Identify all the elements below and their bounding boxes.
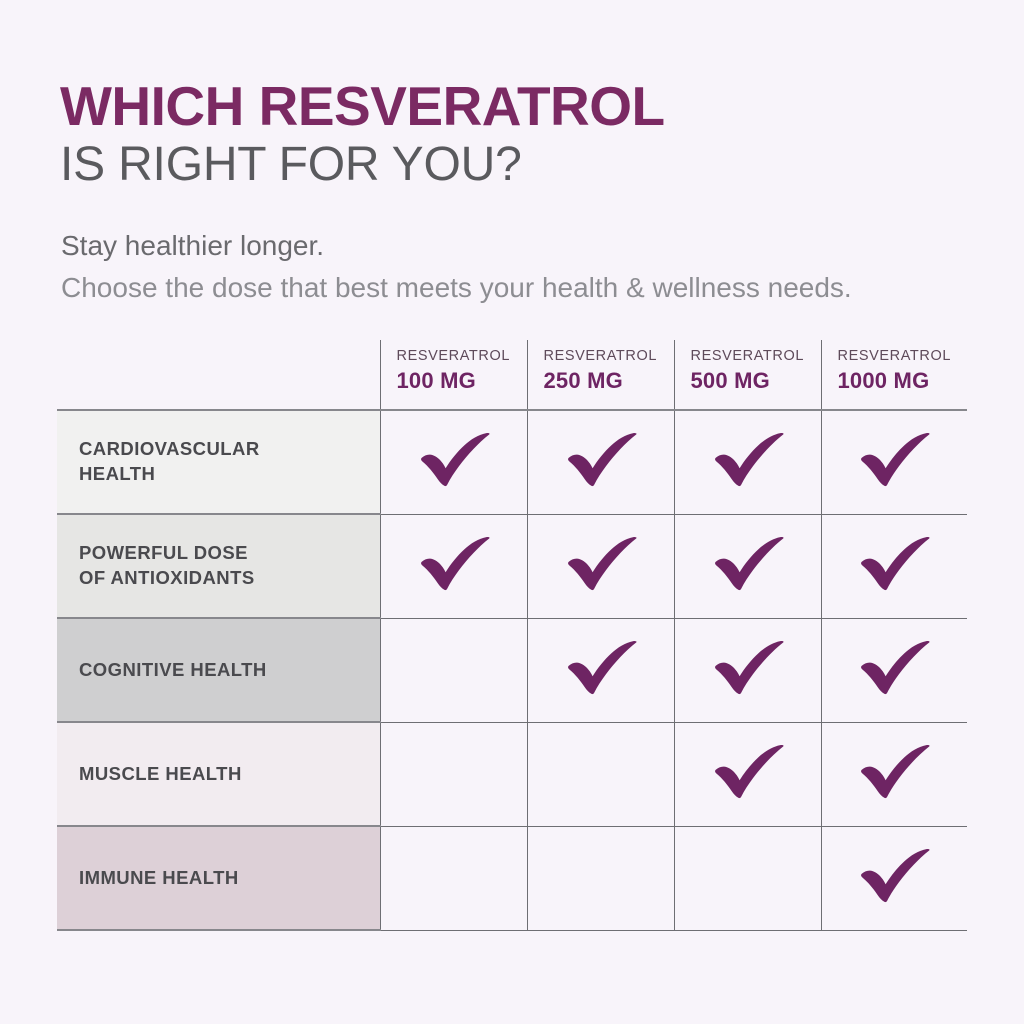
checkmark-icon (563, 641, 639, 700)
checkmark-icon (416, 433, 492, 492)
table-head: RESVERATROL 100 MG RESVERATROL 250 MG RE… (57, 340, 967, 410)
header-brand-label: RESVERATROL (544, 347, 674, 367)
comparison-table-wrapper: RESVERATROL 100 MG RESVERATROL 250 MG RE… (57, 340, 967, 930)
row-label-cell: CARDIOVASCULAR HEALTH (57, 410, 380, 514)
row-label-text: COGNITIVE HEALTH (79, 658, 370, 683)
checkmark-icon (710, 433, 786, 492)
check-cell-500 (674, 618, 821, 722)
check-cell-250 (527, 722, 674, 826)
check-cell-1000 (821, 410, 967, 514)
check-cell-500 (674, 722, 821, 826)
check-cell-250 (527, 410, 674, 514)
checkmark-icon (563, 537, 639, 596)
table-row: POWERFUL DOSE OF ANTIOXIDANTS (57, 514, 967, 618)
check-cell-100 (380, 514, 527, 618)
page-title-secondary: IS RIGHT FOR YOU? (60, 138, 980, 192)
row-label-cell: IMMUNE HEALTH (57, 826, 380, 930)
row-label-text: IMMUNE HEALTH (79, 866, 370, 891)
checkmark-icon (856, 745, 932, 804)
row-label-cell: COGNITIVE HEALTH (57, 618, 380, 722)
checkmark-icon (416, 537, 492, 596)
table-row: IMMUNE HEALTH (57, 826, 967, 930)
table-row: CARDIOVASCULAR HEALTH (57, 410, 967, 514)
check-cell-250 (527, 514, 674, 618)
check-cell-100 (380, 410, 527, 514)
table-row: MUSCLE HEALTH (57, 722, 967, 826)
row-label-text: POWERFUL DOSE OF ANTIOXIDANTS (79, 541, 370, 591)
check-cell-1000 (821, 826, 967, 930)
header-brand-label: RESVERATROL (838, 347, 968, 367)
page-title-primary: WHICH RESVERATROL (60, 78, 980, 134)
row-label-cell: POWERFUL DOSE OF ANTIOXIDANTS (57, 514, 380, 618)
check-cell-250 (527, 826, 674, 930)
check-cell-1000 (821, 514, 967, 618)
subhead-secondary: Choose the dose that best meets your hea… (61, 267, 991, 309)
header-amount-label: 100 MG (397, 367, 527, 395)
check-cell-100 (380, 722, 527, 826)
header-cell-dose-100: RESVERATROL 100 MG (380, 340, 527, 410)
header-amount-label: 1000 MG (838, 367, 968, 395)
infographic-page: WHICH RESVERATROL IS RIGHT FOR YOU? Stay… (0, 0, 1024, 1024)
checkmark-icon (856, 641, 932, 700)
header-brand-label: RESVERATROL (397, 347, 527, 367)
checkmark-icon (856, 849, 932, 908)
table-body: CARDIOVASCULAR HEALTH POWERFUL DOSE OF A… (57, 410, 967, 930)
checkmark-icon (856, 433, 932, 492)
check-cell-500 (674, 826, 821, 930)
table-row: COGNITIVE HEALTH (57, 618, 967, 722)
check-cell-500 (674, 410, 821, 514)
comparison-table: RESVERATROL 100 MG RESVERATROL 250 MG RE… (57, 340, 967, 931)
header-amount-label: 500 MG (691, 367, 821, 395)
checkmark-icon (563, 433, 639, 492)
row-label-text: MUSCLE HEALTH (79, 762, 370, 787)
row-label-cell: MUSCLE HEALTH (57, 722, 380, 826)
check-cell-100 (380, 618, 527, 722)
header-cell-dose-500: RESVERATROL 500 MG (674, 340, 821, 410)
check-cell-1000 (821, 618, 967, 722)
table-header-row: RESVERATROL 100 MG RESVERATROL 250 MG RE… (57, 340, 967, 410)
subhead-block: Stay healthier longer. Choose the dose t… (61, 225, 991, 309)
header-cell-dose-250: RESVERATROL 250 MG (527, 340, 674, 410)
checkmark-icon (710, 745, 786, 804)
header-brand-label: RESVERATROL (691, 347, 821, 367)
check-cell-250 (527, 618, 674, 722)
checkmark-icon (856, 537, 932, 596)
subhead-primary: Stay healthier longer. (61, 225, 991, 267)
header-cell-empty (57, 340, 380, 410)
check-cell-100 (380, 826, 527, 930)
checkmark-icon (710, 641, 786, 700)
check-cell-500 (674, 514, 821, 618)
check-cell-1000 (821, 722, 967, 826)
checkmark-icon (710, 537, 786, 596)
header-cell-dose-1000: RESVERATROL 1000 MG (821, 340, 967, 410)
headline-block: WHICH RESVERATROL IS RIGHT FOR YOU? (60, 78, 980, 192)
row-label-text: CARDIOVASCULAR HEALTH (79, 437, 370, 487)
header-amount-label: 250 MG (544, 367, 674, 395)
